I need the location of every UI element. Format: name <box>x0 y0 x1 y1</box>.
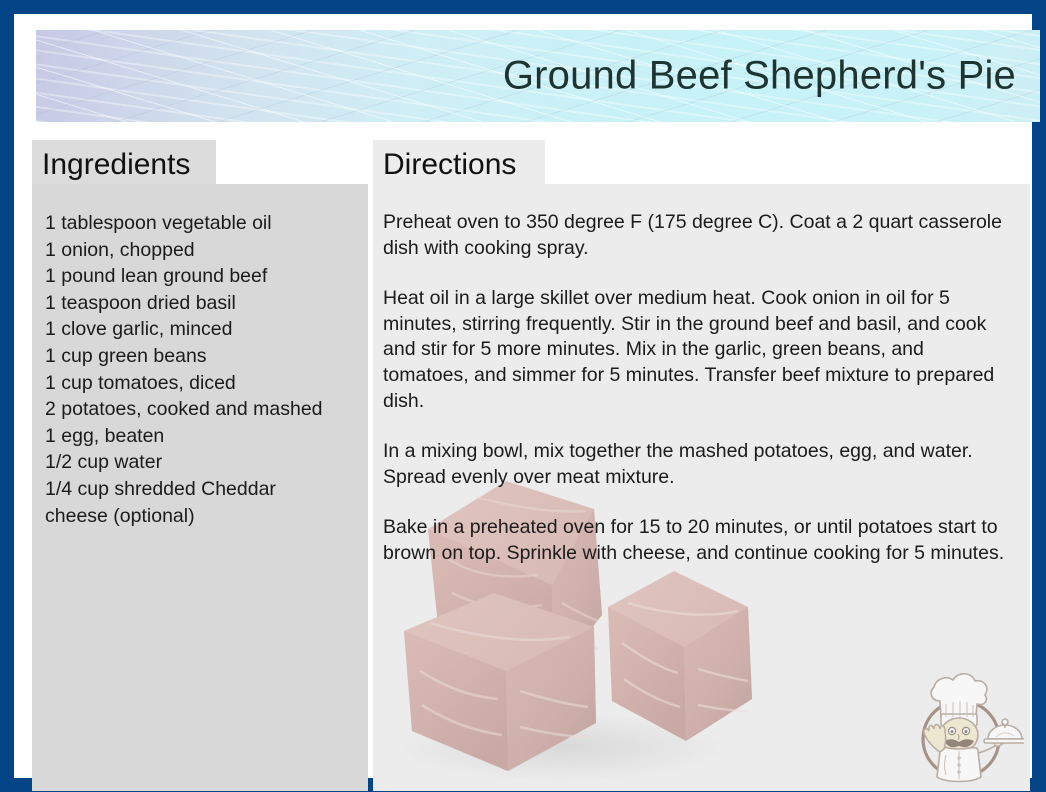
ingredient-item: cheese (optional) <box>45 503 354 530</box>
ingredient-item: 1 clove garlic, minced <box>45 316 354 343</box>
ingredient-item: 1 cup tomatoes, diced <box>45 370 354 397</box>
direction-step: Heat oil in a large skillet over medium … <box>383 286 1008 414</box>
direction-step: Bake in a preheated oven for 15 to 20 mi… <box>383 515 1008 566</box>
directions-panel: Preheat oven to 350 degree F (175 degree… <box>373 184 1030 791</box>
ingredient-item: 1/2 cup water <box>45 449 354 476</box>
page-title: Ground Beef Shepherd's Pie <box>503 54 1016 99</box>
ingredient-item: 1 onion, chopped <box>45 237 354 264</box>
ingredient-list: 1 tablespoon vegetable oil1 onion, chopp… <box>45 210 354 529</box>
ingredient-item: 2 potatoes, cooked and mashed <box>45 396 354 423</box>
direction-step: Preheat oven to 350 degree F (175 degree… <box>383 210 1008 261</box>
page-inner: Ground Beef Shepherd's Pie Ingredients D… <box>14 14 1032 778</box>
directions-steps: Preheat oven to 350 degree F (175 degree… <box>383 210 1008 567</box>
ingredient-item: 1 tablespoon vegetable oil <box>45 210 354 237</box>
recipe-card: Ground Beef Shepherd's Pie Ingredients D… <box>0 0 1046 792</box>
tab-directions[interactable]: Directions <box>373 140 545 188</box>
tab-ingredients[interactable]: Ingredients <box>32 140 216 188</box>
ingredient-item: 1 teaspoon dried basil <box>45 290 354 317</box>
chef-mascot-logo-icon <box>906 659 1024 789</box>
ingredient-item: 1/4 cup shredded Cheddar <box>45 476 354 503</box>
header-banner: Ground Beef Shepherd's Pie <box>36 30 1040 122</box>
ingredient-item: 1 pound lean ground beef <box>45 263 354 290</box>
direction-step: In a mixing bowl, mix together the mashe… <box>383 439 1008 490</box>
ingredient-item: 1 egg, beaten <box>45 423 354 450</box>
ingredient-item: 1 cup green beans <box>45 343 354 370</box>
ingredients-panel: 1 tablespoon vegetable oil1 onion, chopp… <box>32 184 368 791</box>
